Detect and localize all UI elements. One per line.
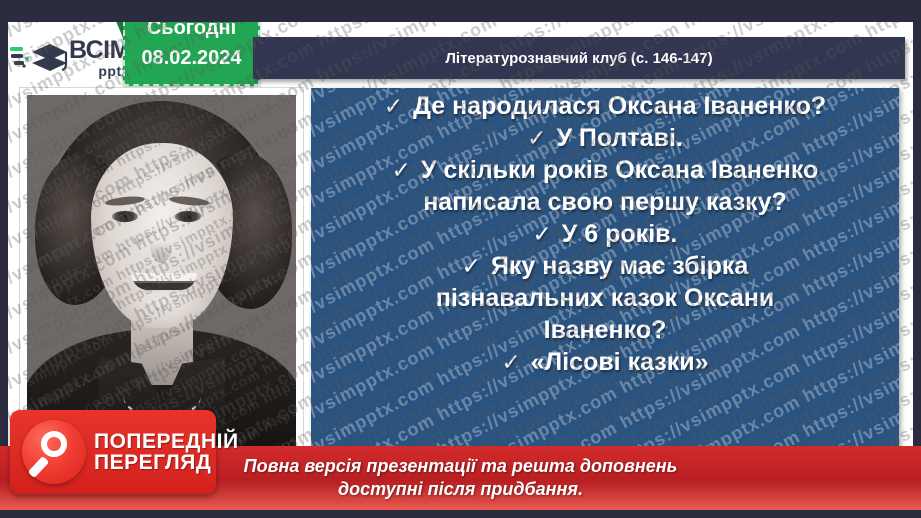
question-line-text: написала свою першу казку? <box>423 188 787 216</box>
checkmark-icon: ✓ <box>527 124 546 153</box>
question-line: ✓У Полтаві. <box>325 122 885 154</box>
question-line: ✓Яку назву має збірка <box>325 250 885 282</box>
slide-title-bar: Літературознавчий клуб (с. 146-147) <box>253 37 905 79</box>
question-line: ✓пізнавальних казок Оксани <box>325 282 885 314</box>
question-line: ✓У 6 років. <box>325 218 885 250</box>
checkmark-icon: ✓ <box>384 92 403 121</box>
portrait-eye-left <box>112 211 138 222</box>
question-line: ✓У скільки років Оксана Іваненко <box>325 154 885 186</box>
graduation-cap-svg <box>10 38 68 78</box>
portrait-mouth <box>131 273 197 290</box>
question-line-text: У Полтаві. <box>556 124 682 152</box>
checkmark-icon: ✓ <box>533 220 552 249</box>
portrait-frame: https://vsimpptx.com https://vsimpptx.co… <box>20 88 303 464</box>
portrait-eye-right <box>175 211 201 222</box>
preview-badge-line1: ПОПЕРЕДНІЙ <box>94 431 239 452</box>
preview-badge: ПОПЕРЕДНІЙ ПЕРЕГЛЯД <box>10 410 216 494</box>
question-line: ✓Де народилася Оксана Іваненко? <box>325 90 885 122</box>
slide-viewer: ВСІМ pptx Сьогодні 08.02.2024 Літературо… <box>0 0 921 518</box>
question-line-text: У скільки років Оксана Іваненко <box>421 156 818 184</box>
banner-line1: Повна версія презентації та решта доповн… <box>244 455 678 478</box>
today-label: Сьогодні <box>147 22 236 43</box>
question-line: ✓Іваненко? <box>325 314 885 346</box>
question-line-text: У 6 років. <box>562 220 678 248</box>
question-line-text: Іваненко? <box>544 316 667 344</box>
checkmark-icon: ✓ <box>501 348 520 377</box>
portrait-nose <box>150 227 172 263</box>
preview-badge-line2: ПЕРЕГЛЯД <box>94 452 239 473</box>
today-date: 08.02.2024 <box>141 43 241 73</box>
question-line: ✓«Лісові казки» <box>325 346 885 378</box>
magnifier-icon <box>22 420 86 484</box>
banner-line2: доступні після придбання. <box>338 478 583 501</box>
checkmark-icon: ✓ <box>462 252 481 281</box>
graduation-cap-icon <box>10 38 68 78</box>
question-line: ✓написала свою першу казку? <box>325 186 885 218</box>
page-title: Літературознавчий клуб (с. 146-147) <box>445 50 712 67</box>
questions-list: ✓Де народилася Оксана Іваненко?✓У Полтав… <box>311 88 899 378</box>
question-line-text: Яку назву має збірка <box>491 252 748 280</box>
magnifier-handle <box>28 456 50 478</box>
portrait-photo: https://vsimpptx.com https://vsimpptx.co… <box>27 95 296 457</box>
questions-panel: ✓Де народилася Оксана Іваненко?✓У Полтав… <box>311 88 899 464</box>
question-line-text: «Лісові казки» <box>531 348 709 376</box>
question-line-text: пізнавальних казок Оксани <box>436 284 774 312</box>
question-line-text: Де народилася Оксана Іваненко? <box>413 92 826 120</box>
checkmark-icon: ✓ <box>392 156 411 185</box>
magnifier-glass <box>41 431 67 457</box>
today-badge-body: Сьогодні 08.02.2024 <box>123 22 260 86</box>
portrait-chin <box>119 291 211 329</box>
